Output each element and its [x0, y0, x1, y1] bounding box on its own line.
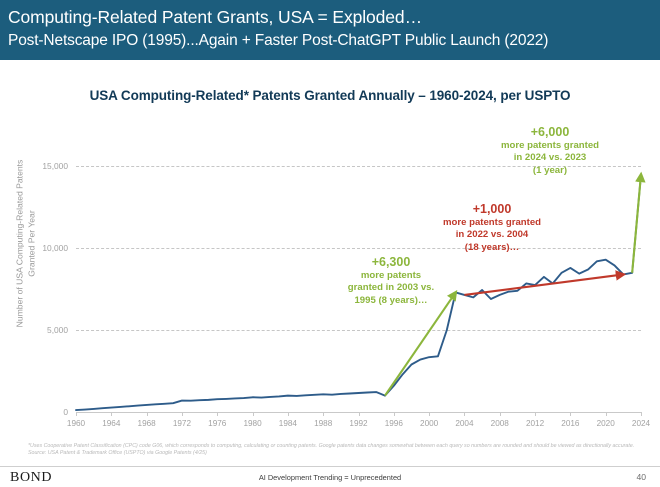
chart-plot-area: Number of USA Computing-Related Patents …	[0, 112, 660, 437]
page-number: 40	[636, 472, 646, 482]
header-title-line1: Computing-Related Patent Grants, USA = E…	[8, 5, 660, 30]
annotation-text-line: in 2022 vs. 2004	[392, 229, 592, 241]
annotation-arrow	[385, 292, 456, 395]
header-title-line2: Post-Netscape IPO (1995)...Again + Faste…	[8, 30, 660, 52]
annotation-text-line: more patents granted	[392, 217, 592, 229]
annotation-text-line: (18 years)…	[392, 242, 592, 254]
annotation-text-line: +6,000	[462, 125, 638, 140]
annotation-text-line: more patents granted	[462, 140, 638, 152]
annotation-text-line: in 2024 vs. 2023	[462, 152, 638, 164]
chart-footnote: *Uses Cooperative Patent Classification …	[28, 443, 636, 458]
chart-title: USA Computing-Related* Patents Granted A…	[0, 88, 660, 103]
annotation-arrow	[632, 175, 641, 273]
annotation-text-line: 1995 (8 years)…	[316, 295, 466, 307]
annotation-text-line: granted in 2003 vs.	[316, 282, 466, 294]
annotation-text-line: (1 year)	[462, 165, 638, 177]
footer-caption: AI Development Trending = Unprecedented	[0, 473, 660, 482]
annotation-text-line: +6,300	[316, 255, 466, 270]
annotation-2024-vs-2023: +6,000more patents grantedin 2024 vs. 20…	[462, 125, 638, 177]
annotation-2022-vs-2004: +1,000more patents grantedin 2022 vs. 20…	[392, 202, 592, 254]
footer-divider	[0, 466, 660, 467]
annotation-text-line: +1,000	[392, 202, 592, 217]
annotation-2003-vs-1995: +6,300more patentsgranted in 2003 vs.199…	[316, 255, 466, 307]
annotation-text-line: more patents	[316, 270, 466, 282]
slide-header-banner: Computing-Related Patent Grants, USA = E…	[0, 0, 660, 60]
